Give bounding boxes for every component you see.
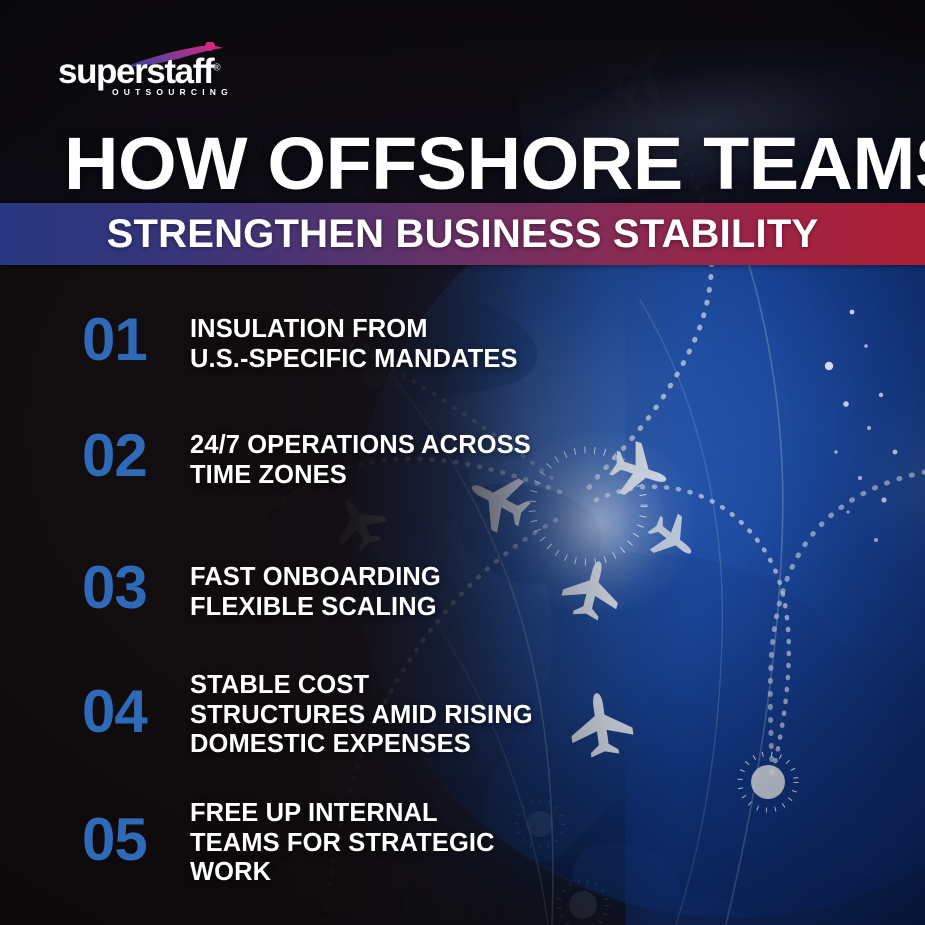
- list-item-text: 24/7 OPERATIONS ACROSS TIME ZONES: [190, 426, 531, 490]
- list-item-number: 02: [82, 426, 190, 484]
- list-item-text: STABLE COST STRUCTURES AMID RISING DOMES…: [190, 666, 533, 760]
- list-item: 03 FAST ONBOARDING FLEXIBLE SCALING: [82, 558, 441, 622]
- subtitle-text: STRENGTHEN BUSINESS STABILITY: [0, 214, 925, 254]
- list-item-number: 03: [82, 558, 190, 616]
- subtitle-banner: STRENGTHEN BUSINESS STABILITY: [0, 203, 925, 265]
- logo-wordmark: superstaff®: [58, 54, 221, 89]
- list-item-text: FAST ONBOARDING FLEXIBLE SCALING: [190, 558, 441, 622]
- list-item-number: 01: [82, 310, 190, 368]
- page-title: HOW OFFSHORE TEAMS: [64, 127, 911, 201]
- logo-wordmark-text: superstaff: [58, 52, 213, 91]
- list-item: 02 24/7 OPERATIONS ACROSS TIME ZONES: [82, 426, 531, 490]
- list-item: 01 INSULATION FROM U.S.-SPECIFIC MANDATE…: [82, 310, 518, 374]
- list-item: 04 STABLE COST STRUCTURES AMID RISING DO…: [82, 666, 533, 760]
- list-item-number: 05: [82, 794, 190, 868]
- list-item: 05 FREE UP INTERNAL TEAMS FOR STRATEGIC …: [82, 794, 495, 888]
- logo-registered-mark: ®: [213, 62, 220, 73]
- list-item-text: INSULATION FROM U.S.-SPECIFIC MANDATES: [190, 310, 518, 374]
- list-item-text: FREE UP INTERNAL TEAMS FOR STRATEGIC WOR…: [190, 794, 495, 888]
- list-item-number: 04: [82, 666, 190, 740]
- infographic-poster: superstaff® OUTSOURCING HOW OFFSHORE TEA…: [0, 0, 925, 925]
- logo-tagline: OUTSOURCING: [112, 87, 233, 97]
- brand-logo[interactable]: superstaff® OUTSOURCING: [58, 44, 298, 94]
